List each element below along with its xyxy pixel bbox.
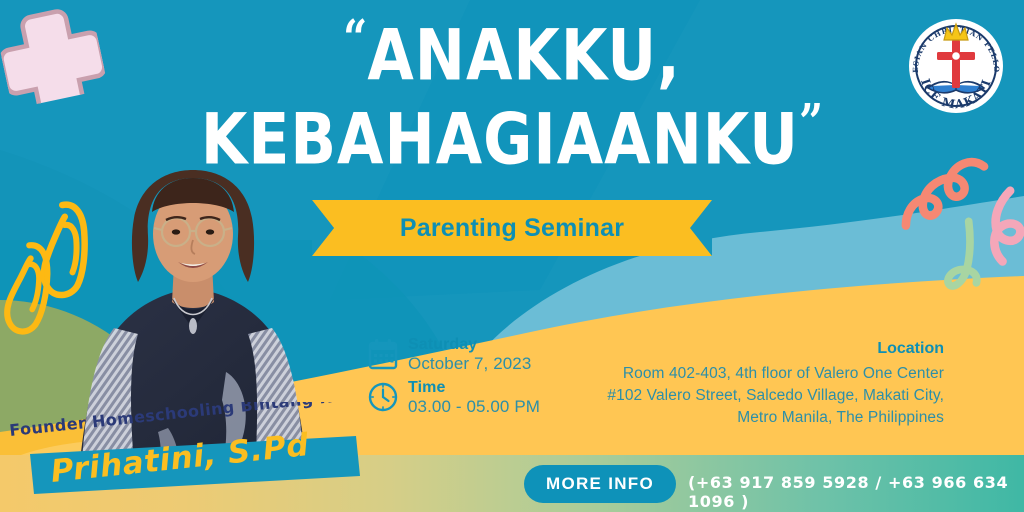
location-line-2: #102 Valero Street, Salcedo Village, Mak…	[607, 385, 944, 407]
time-value: 03.00 - 05.00 PM	[408, 397, 540, 416]
date-value: October 7, 2023	[408, 354, 531, 373]
calendar-icon	[368, 338, 398, 370]
squiggle-icon	[936, 215, 986, 295]
event-poster: INDONESIAN CHRISTIAN FELLOWSHIP ICF MAKA…	[0, 0, 1024, 512]
paperclip-icon	[0, 236, 62, 340]
more-info-button[interactable]: MORE INFO	[524, 465, 676, 503]
parenting-seminar-ribbon: Parenting Seminar	[312, 200, 712, 256]
date-label: Saturday	[408, 336, 531, 354]
icf-makati-logo: INDONESIAN CHRISTIAN FELLOWSHIP ICF MAKA…	[904, 14, 1008, 118]
clock-icon	[368, 381, 398, 413]
squiggle-icon	[985, 185, 1024, 271]
date-row: Saturday October 7, 2023	[368, 336, 540, 373]
contact-phone-numbers: (+63 917 859 5928 / +63 966 634 1096 )	[688, 473, 1024, 511]
ribbon-label: Parenting Seminar	[312, 200, 712, 256]
location-title: Location	[607, 338, 944, 361]
logo-cross-icon	[952, 40, 960, 88]
speaker-role: Founder Homeschooling Bintang Harapan	[8, 402, 364, 440]
date-time-group: Saturday October 7, 2023	[368, 336, 540, 416]
location-line-3: Metro Manila, The Philippines	[607, 407, 944, 429]
location-line-1: Room 402-403, 4th floor of Valero One Ce…	[607, 363, 944, 385]
speaker-name-block: Founder Homeschooling Bintang Harapan Pr…	[0, 402, 364, 494]
location-group: Location Room 402-403, 4th floor of Vale…	[607, 338, 944, 429]
time-label: Time	[408, 379, 540, 397]
time-row: Time 03.00 - 05.00 PM	[368, 379, 540, 416]
